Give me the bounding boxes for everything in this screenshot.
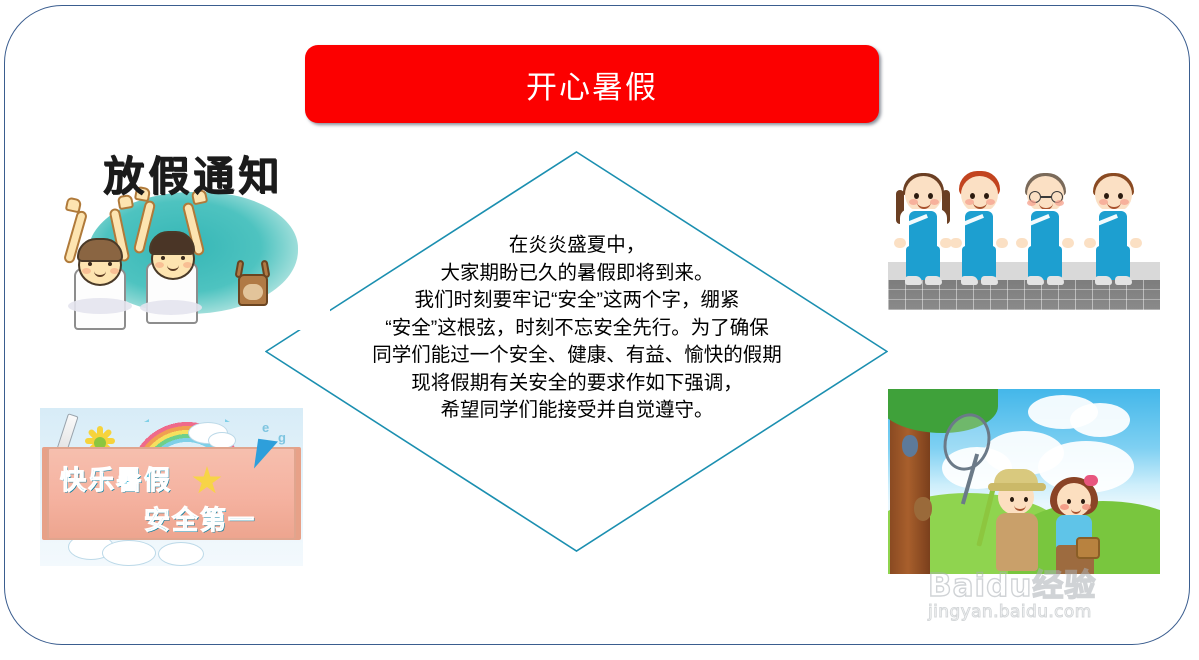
- cicada-icon: [902, 435, 918, 457]
- student-cheek: [1027, 200, 1036, 206]
- kid-eye: [181, 256, 185, 260]
- boy-body: [996, 513, 1038, 571]
- student-eye: [928, 193, 933, 199]
- cloud-shape: [1070, 403, 1130, 437]
- shoulder-bag: [1076, 537, 1100, 559]
- student-eye: [970, 193, 975, 199]
- kid-cheek: [110, 268, 119, 274]
- student-figure: [1084, 176, 1142, 288]
- poster-line-1: 快乐暑假: [60, 460, 172, 497]
- kid-hair: [149, 231, 195, 255]
- student-legs: [1028, 246, 1062, 280]
- pennant-flag-icon: [254, 439, 278, 471]
- students-on-wall-illustration: [888, 165, 1160, 310]
- cat-figure: [236, 260, 270, 306]
- cat-face: [243, 284, 263, 300]
- student-figure: [894, 176, 952, 288]
- student-eye: [914, 193, 919, 199]
- doodle-letter: g: [278, 430, 286, 445]
- page-title: 开心暑假: [526, 62, 658, 107]
- title-banner: 开心暑假: [305, 45, 879, 123]
- girl-eye: [1067, 499, 1071, 504]
- kid-cheek: [155, 262, 164, 268]
- student-hand: [1016, 238, 1028, 248]
- student-figure: [950, 176, 1008, 288]
- student-shoe: [925, 276, 942, 285]
- cloud-shape: [102, 540, 156, 566]
- girl-cheek: [1082, 504, 1091, 510]
- student-cheek: [986, 199, 995, 205]
- student-hand: [1084, 238, 1096, 248]
- holiday-notice-caption: 放假通知: [78, 142, 308, 202]
- student-hand: [894, 238, 906, 248]
- student-shoe: [961, 276, 978, 285]
- student-legs: [962, 246, 996, 280]
- holiday-notice-illustration: 放假通知: [40, 140, 330, 330]
- student-eye: [1118, 193, 1123, 199]
- student-shoe: [905, 276, 922, 285]
- boy-eye: [1024, 497, 1028, 502]
- boy-eye: [1010, 497, 1014, 502]
- diamond-body-text: 在炎炎盛夏中， 大家期盼已久的暑假即将到来。 我们时刻要牢记“安全”这两个字，绷…: [300, 232, 854, 425]
- student-legs: [1096, 246, 1130, 280]
- squirrel-icon: [914, 497, 932, 521]
- student-hand: [996, 238, 1008, 248]
- student-shoe: [1027, 276, 1044, 285]
- kid-hair: [77, 238, 123, 262]
- student-shoe: [981, 276, 998, 285]
- poster-line-2: 安全第一: [144, 500, 256, 537]
- student-shoe: [1095, 276, 1112, 285]
- student-cheek: [1120, 199, 1129, 205]
- student-hand: [1130, 238, 1142, 248]
- student-legs: [906, 246, 940, 280]
- hair-bow: [1084, 475, 1098, 486]
- cicada-catching-illustration: [888, 389, 1160, 574]
- student-cheek: [1055, 200, 1064, 206]
- kid-eye: [161, 256, 165, 260]
- cloud-shape: [158, 542, 204, 566]
- kid-eye: [88, 262, 92, 266]
- girl-cheek: [1060, 504, 1069, 510]
- ground-shadow: [68, 298, 132, 314]
- student-shoe: [1047, 276, 1064, 285]
- kid-eye: [108, 262, 112, 266]
- doodle-letter: e: [262, 420, 269, 435]
- summer-safety-poster: e g 快乐暑假 安全第一: [40, 408, 303, 566]
- straw-hat-brim: [988, 483, 1046, 491]
- student-hand: [1062, 238, 1074, 248]
- student-figure: [1016, 176, 1074, 288]
- kid-cheek: [82, 268, 91, 274]
- ground-shadow: [140, 300, 202, 315]
- student-hand: [950, 238, 962, 248]
- student-shoe: [1115, 276, 1132, 285]
- student-eye: [984, 193, 989, 199]
- student-cheek: [930, 199, 939, 205]
- student-eye: [1104, 193, 1109, 199]
- kid-cheek: [183, 262, 192, 268]
